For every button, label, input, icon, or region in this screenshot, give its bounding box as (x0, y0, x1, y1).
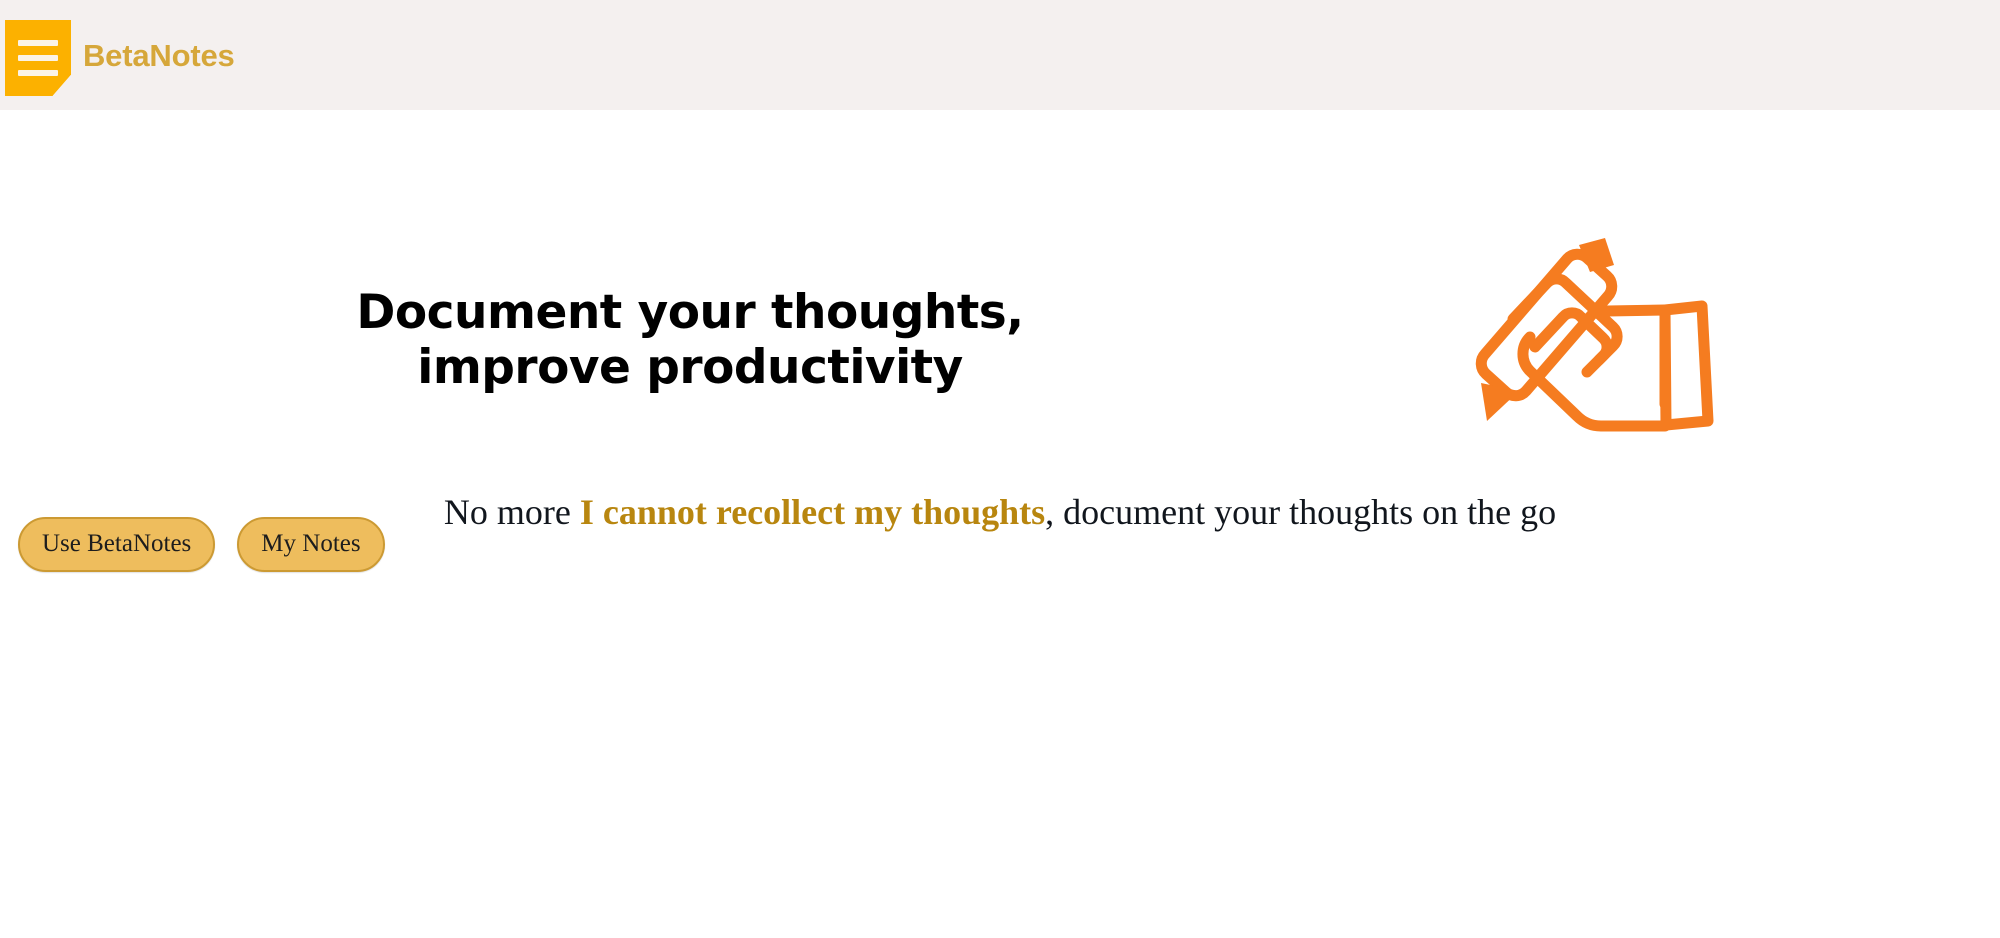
subtitle-suffix: , document your thoughts on the go (1045, 492, 1556, 532)
app-header: BetaNotes (0, 0, 2000, 110)
subtitle-accent: I cannot recollect my thoughts (580, 492, 1045, 532)
cta-button-row: Use BetaNotes My Notes (18, 517, 385, 572)
note-document-icon[interactable] (5, 20, 71, 96)
brand-link[interactable]: BetaNotes (0, 0, 235, 110)
subtitle-prefix: No more (444, 492, 580, 532)
hand-holding-pencil-icon (1455, 215, 1725, 445)
logo-line-3 (18, 70, 58, 76)
my-notes-button[interactable]: My Notes (237, 517, 384, 572)
use-betanotes-button[interactable]: Use BetaNotes (18, 517, 215, 572)
logo-line-2 (18, 55, 58, 61)
hero-section: Document your thoughts, improve producti… (0, 110, 2000, 938)
page-title: Document your thoughts, improve producti… (280, 285, 1100, 396)
logo-line-1 (18, 40, 58, 46)
logo-lines (18, 40, 58, 76)
brand-name: BetaNotes (83, 40, 235, 71)
